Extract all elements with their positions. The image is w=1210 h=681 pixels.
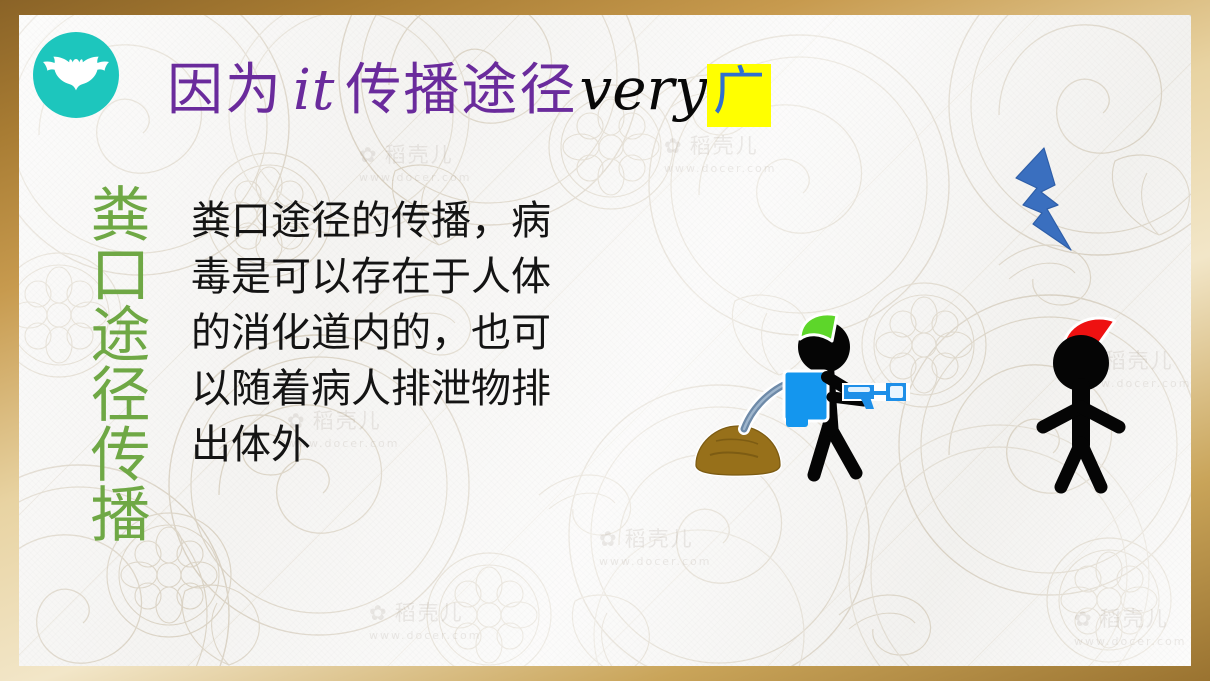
title-segment-very: very (577, 55, 707, 123)
leaf-icon: ✿ (369, 601, 389, 625)
slide-canvas: ✿稻壳儿 www.docer.com ✿稻壳儿 www.docer.com ✿稻… (19, 15, 1191, 666)
leaf-icon: ✿ (1074, 607, 1094, 631)
watermark: ✿稻壳儿 www.docer.com (1074, 603, 1187, 648)
water-gun-icon (842, 383, 910, 409)
stick-figure-capped (1019, 315, 1169, 495)
title-segment-en: it (283, 58, 345, 123)
slide-title: 因为 it 传播途径 very 广 (167, 45, 771, 131)
leaf-icon: ✿ (599, 527, 619, 551)
bat-logo[interactable] (33, 32, 119, 118)
vertical-section-heading: 粪口途径传播 (71, 183, 145, 543)
watermark: ✿稻壳儿 www.docer.com (664, 130, 777, 175)
stick-figure-sprayer (674, 305, 934, 505)
leaf-icon: ✿ (664, 134, 684, 158)
title-segment-cn-2: 传播途径 (345, 45, 577, 126)
body-paragraph: 粪口途径的传播，病毒是可以存在于人体的消化道内的，也可以随着病人排泄物排出体外 (191, 193, 551, 473)
title-highlighted-character: 广 (707, 64, 771, 127)
presentation-slide: ✿稻壳儿 www.docer.com ✿稻壳儿 www.docer.com ✿稻… (0, 0, 1210, 681)
title-segment-cn-1: 因为 (167, 45, 283, 126)
watermark: ✿稻壳儿 www.docer.com (359, 139, 472, 184)
watermark: ✿稻壳儿 www.docer.com (599, 523, 712, 568)
waste-pile-icon (696, 426, 780, 475)
lightning-bolt-icon (1011, 147, 1083, 251)
leaf-icon: ✿ (359, 143, 379, 167)
watermark: ✿稻壳儿 www.docer.com (369, 597, 482, 642)
bat-icon (42, 56, 110, 96)
